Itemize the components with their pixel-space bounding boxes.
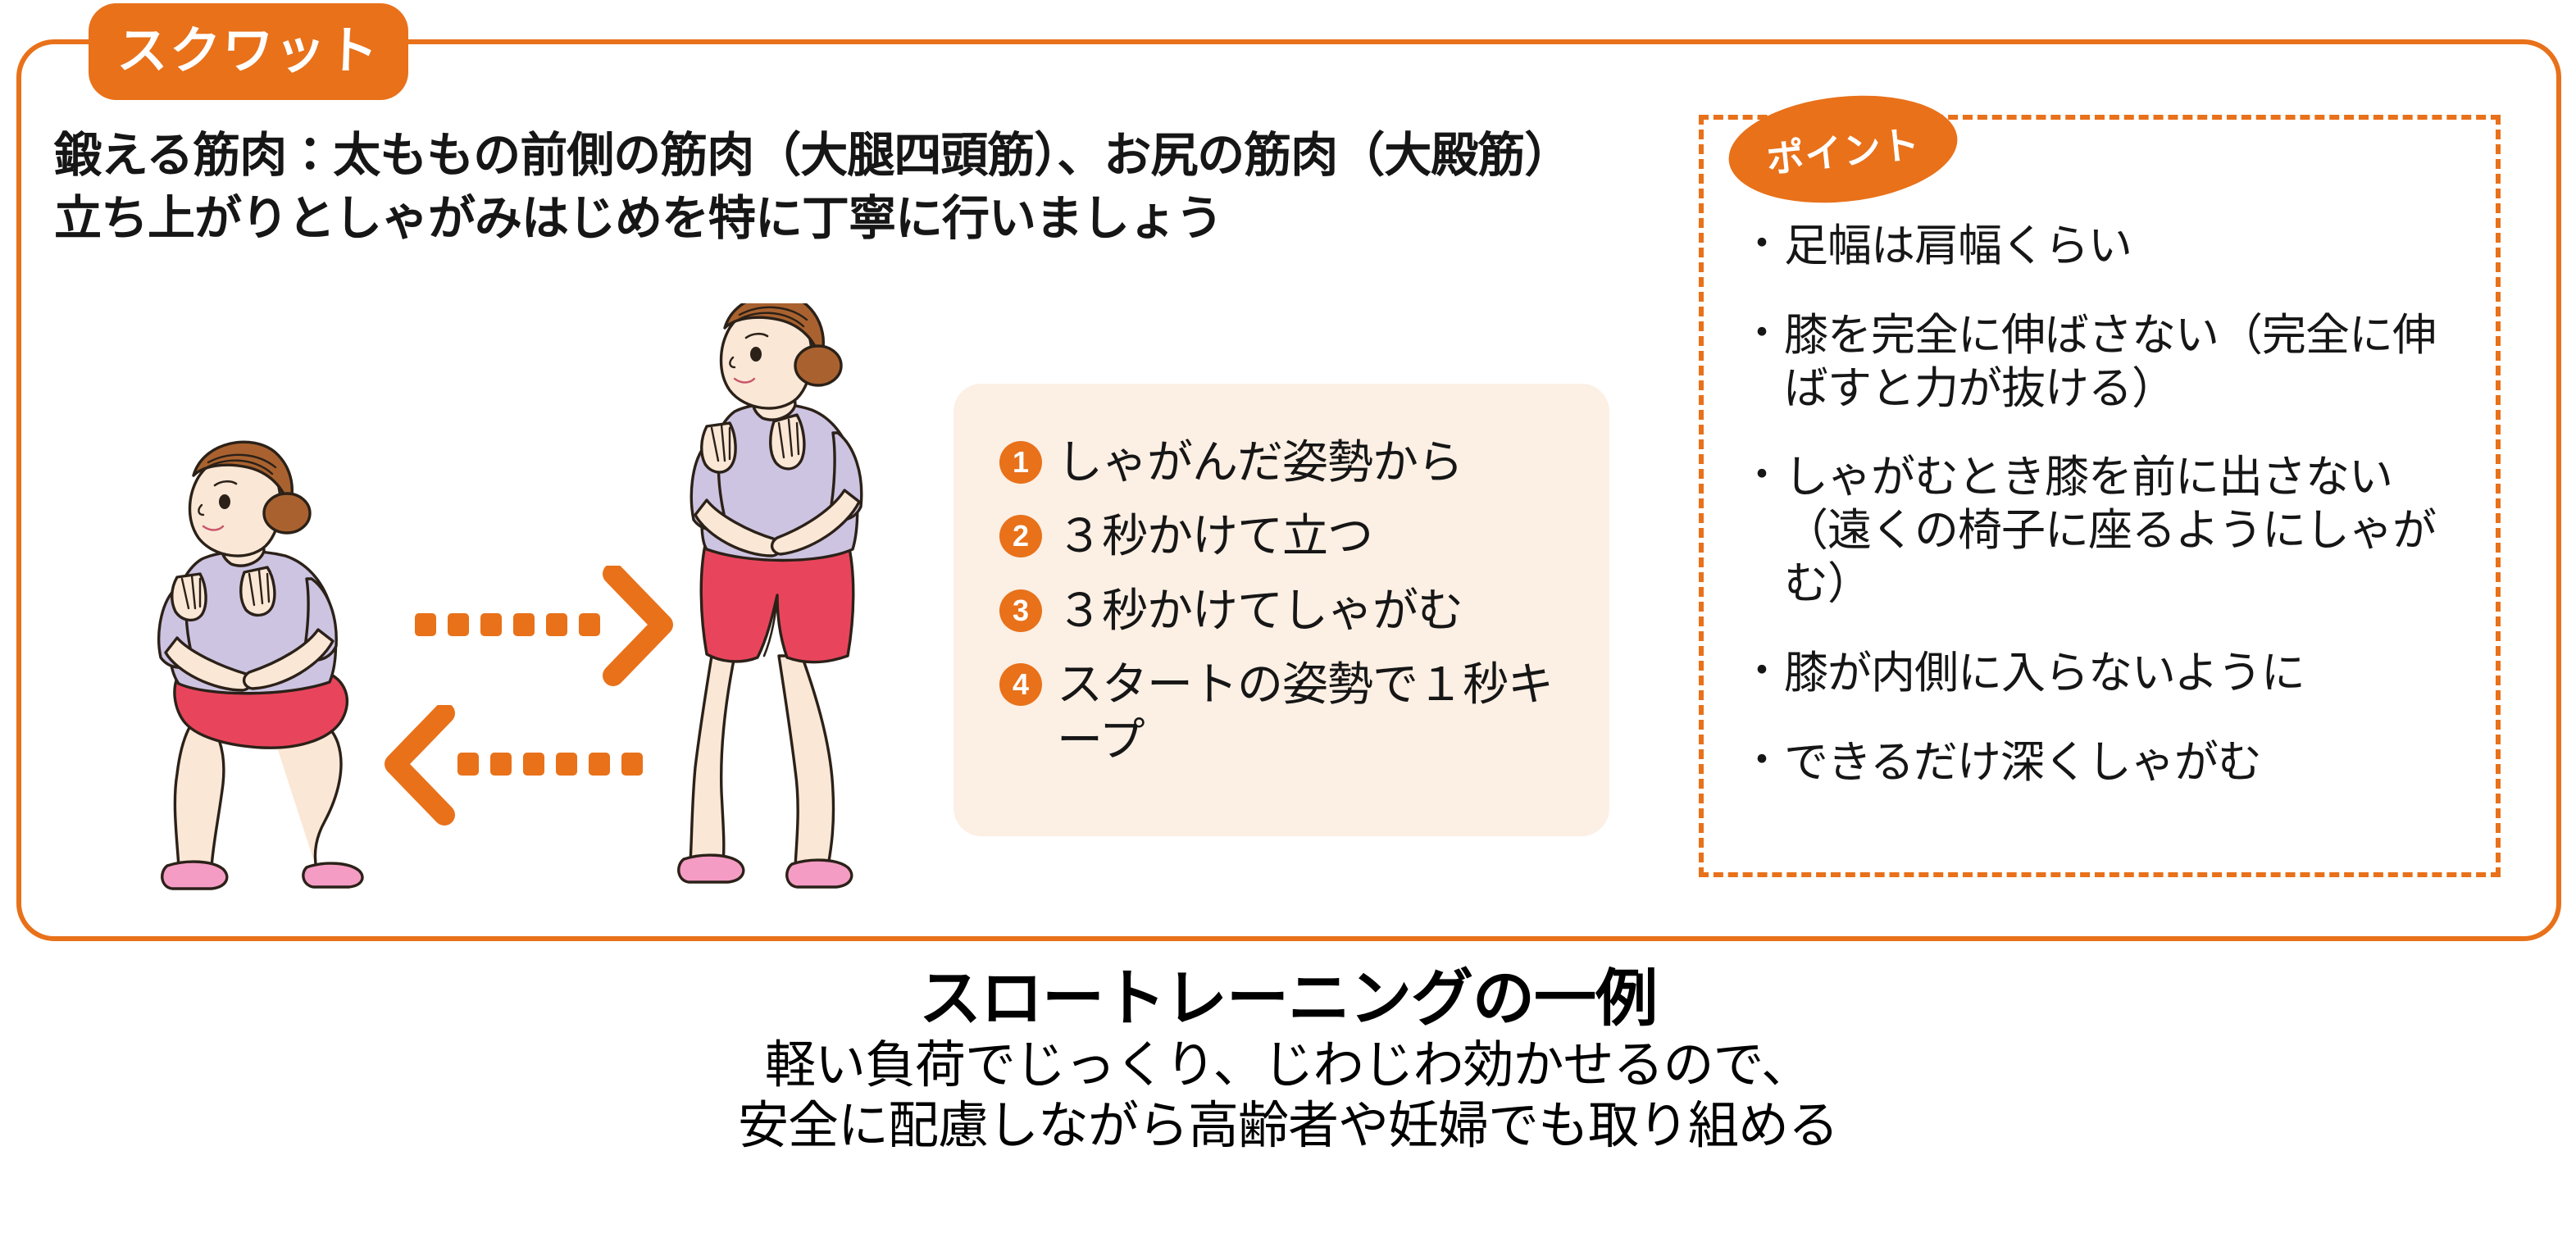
exercise-title-label: スクワット bbox=[116, 26, 380, 77]
point-label: できるだけ深くしゃがむ bbox=[1784, 736, 2261, 789]
bullet-dot-icon: ・ bbox=[1741, 647, 1782, 695]
bullet-dot-icon: ・ bbox=[1741, 220, 1782, 268]
step-item: 1 しゃがんだ姿勢から bbox=[999, 434, 1577, 490]
steps-panel: 1 しゃがんだ姿勢から 2 ３秒かけて立つ 3 ３秒かけてしゃがむ 4 スタート… bbox=[953, 384, 1609, 836]
caption-block: スロートレーニングの一例 軽い負荷でじっくり、じわじわ効かせるので、 安全に配慮… bbox=[0, 964, 2576, 1157]
step-label: ３秒かけて立つ bbox=[1057, 508, 1372, 564]
point-item: ・ 膝を完全に伸ばさない（完全に伸ばすと力が抜ける） bbox=[1741, 309, 2479, 416]
point-item: ・ 足幅は肩幅くらい bbox=[1741, 220, 2479, 273]
step-item: 2 ３秒かけて立つ bbox=[999, 508, 1577, 564]
bullet-dot-icon: ・ bbox=[1741, 309, 1782, 357]
standing-woman-illustration bbox=[656, 303, 926, 902]
point-label: しゃがむとき膝を前に出さない（遠くの椅子に座るようにしゃがむ） bbox=[1784, 451, 2473, 610]
points-badge-label: ポイント bbox=[1764, 114, 1923, 184]
caption-title: スロートレーニングの一例 bbox=[0, 964, 2576, 1035]
caption-line-2: 安全に配慮しながら高齢者や妊婦でも取り組める bbox=[0, 1096, 2576, 1157]
heading-block: 鍛える筋肉：太ももの前側の筋肉（大腿四頭筋）、お尻の筋肉（大殿筋） 立ち上がりと… bbox=[54, 125, 1694, 250]
point-label: 膝を完全に伸ばさない（完全に伸ばすと力が抜ける） bbox=[1784, 309, 2473, 416]
step-number-badge: 4 bbox=[999, 663, 1042, 706]
step-label: ３秒かけてしゃがむ bbox=[1057, 583, 1463, 639]
squatting-woman-illustration bbox=[123, 426, 418, 902]
arrow-stand-to-squat-icon bbox=[377, 705, 648, 828]
arrow-squat-to-stand-icon bbox=[410, 566, 680, 689]
step-label: スタートの姿勢で１秒キープ bbox=[1057, 657, 1577, 769]
exercise-title-badge: スクワット bbox=[89, 3, 408, 100]
step-number-badge: 1 bbox=[999, 441, 1042, 484]
point-label: 足幅は肩幅くらい bbox=[1784, 220, 2132, 273]
caption-line-1: 軽い負荷でじっくり、じわじわ効かせるので、 bbox=[0, 1035, 2576, 1096]
bullet-dot-icon: ・ bbox=[1741, 736, 1782, 785]
heading-line-muscles: 鍛える筋肉：太ももの前側の筋肉（大腿四頭筋）、お尻の筋肉（大殿筋） bbox=[54, 125, 1694, 188]
point-label: 膝が内側に入らないように bbox=[1784, 647, 2305, 700]
step-item: 4 スタートの姿勢で１秒キープ bbox=[999, 657, 1577, 769]
step-number-badge: 2 bbox=[999, 515, 1042, 557]
bullet-dot-icon: ・ bbox=[1741, 451, 1782, 499]
step-label: しゃがんだ姿勢から bbox=[1057, 434, 1463, 490]
step-item: 3 ３秒かけてしゃがむ bbox=[999, 583, 1577, 639]
point-item: ・ できるだけ深くしゃがむ bbox=[1741, 736, 2479, 789]
points-list: ・ 足幅は肩幅くらい ・ 膝を完全に伸ばさない（完全に伸ばすと力が抜ける） ・ … bbox=[1741, 220, 2479, 825]
point-item: ・ 膝が内側に入らないように bbox=[1741, 647, 2479, 700]
heading-line-advice: 立ち上がりとしゃがみはじめを特に丁寧に行いましょう bbox=[54, 188, 1694, 251]
step-number-badge: 3 bbox=[999, 589, 1042, 632]
point-item: ・ しゃがむとき膝を前に出さない（遠くの椅子に座るようにしゃがむ） bbox=[1741, 451, 2479, 610]
